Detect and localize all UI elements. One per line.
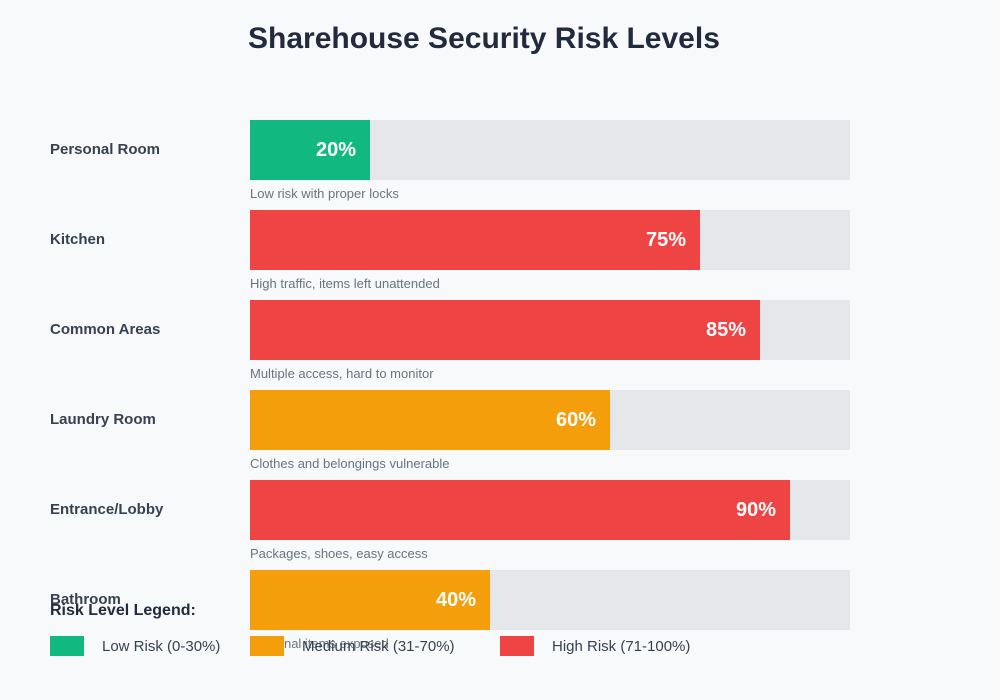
risk-bar-area: 20% — [250, 120, 850, 180]
risk-row: Common Areas 85% Multiple access, hard t… — [0, 300, 1000, 390]
risk-bar-area: 90% — [250, 480, 850, 540]
legend-title: Risk Level Legend: — [50, 602, 960, 620]
legend-item-high-risk[interactable]: High Risk (71-100%) — [500, 636, 690, 656]
risk-bar-fill[interactable]: 75% — [250, 210, 700, 270]
page-title: Sharehouse Security Risk Levels — [248, 22, 720, 56]
risk-bar-track[interactable]: 85% — [250, 300, 850, 360]
risk-row: Personal Room 20% Low risk with proper l… — [0, 120, 1000, 210]
risk-bar-track[interactable]: 75% — [250, 210, 850, 270]
risk-bar-area: 75% — [250, 210, 850, 270]
risk-bar-area: 85% — [250, 300, 850, 360]
risk-row: Kitchen 75% High traffic, items left una… — [0, 210, 1000, 300]
risk-bar-area: 60% — [250, 390, 850, 450]
risk-bar-track[interactable]: 90% — [250, 480, 850, 540]
risk-bar-value: 20% — [316, 139, 370, 162]
legend-item-label: Medium Risk (31-70%) — [302, 638, 455, 655]
risk-level-legend: Risk Level Legend: Low Risk (0-30%) Medi… — [50, 602, 960, 658]
risk-bar-value: 85% — [706, 319, 760, 342]
risk-row-label: Laundry Room — [50, 410, 240, 430]
legend-item-label: High Risk (71-100%) — [552, 638, 690, 655]
legend-swatch-icon — [250, 636, 284, 656]
risk-row-description: Low risk with proper locks — [250, 186, 399, 201]
risk-row-label: Entrance/Lobby — [50, 500, 240, 520]
risk-bar-fill[interactable]: 85% — [250, 300, 760, 360]
risk-bar-value: 90% — [736, 499, 790, 522]
risk-bar-track[interactable]: 20% — [250, 120, 850, 180]
legend-items: Low Risk (0-30%) Medium Risk (31-70%) Hi… — [50, 636, 960, 658]
risk-bar-value: 60% — [556, 409, 610, 432]
risk-row-label: Common Areas — [50, 320, 240, 340]
risk-row: Entrance/Lobby 90% Packages, shoes, easy… — [0, 480, 1000, 570]
risk-row-description: Multiple access, hard to monitor — [250, 366, 434, 381]
risk-row-description: High traffic, items left unattended — [250, 276, 440, 291]
risk-bar-fill[interactable]: 20% — [250, 120, 370, 180]
chart-canvas: Sharehouse Security Risk Levels Personal… — [0, 0, 1000, 700]
risk-bar-fill[interactable]: 60% — [250, 390, 610, 450]
legend-item-medium-risk[interactable]: Medium Risk (31-70%) — [250, 636, 455, 656]
risk-bar-track[interactable]: 60% — [250, 390, 850, 450]
legend-swatch-icon — [500, 636, 534, 656]
legend-swatch-icon — [50, 636, 84, 656]
risk-row-label: Personal Room — [50, 140, 240, 160]
legend-item-low-risk[interactable]: Low Risk (0-30%) — [50, 636, 220, 656]
risk-bar-fill[interactable]: 90% — [250, 480, 790, 540]
risk-bar-list: Personal Room 20% Low risk with proper l… — [0, 120, 1000, 660]
risk-row-description: Packages, shoes, easy access — [250, 546, 428, 561]
risk-row-label: Kitchen — [50, 230, 240, 250]
risk-row-description: Clothes and belongings vulnerable — [250, 456, 449, 471]
risk-row: Laundry Room 60% Clothes and belongings … — [0, 390, 1000, 480]
legend-item-label: Low Risk (0-30%) — [102, 638, 220, 655]
risk-bar-value: 75% — [646, 229, 700, 252]
